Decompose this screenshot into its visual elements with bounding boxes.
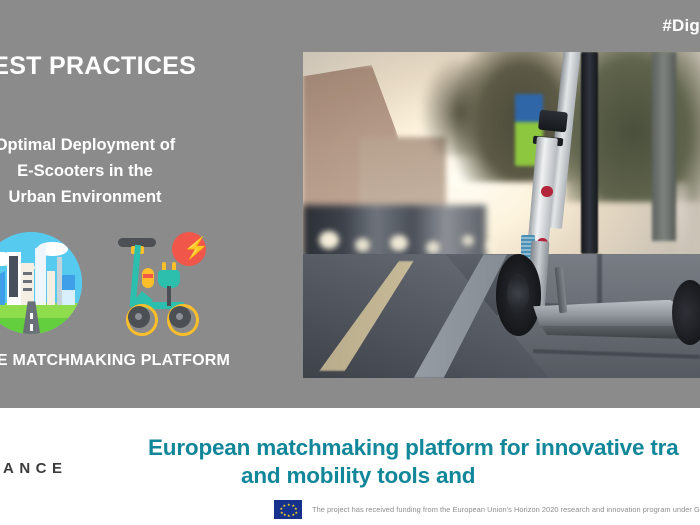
funding-row: ★ ★ ★ ★ ★ ★ ★ ★ ★ ★ The project has rece… [274, 500, 700, 519]
slide-viewport: #Dig BEST PRACTICES Optimal Deployment o… [0, 0, 700, 525]
slide-subtitle: Optimal Deployment of E-Scooters in the … [0, 132, 300, 210]
slide-title: BEST PRACTICES [0, 52, 300, 81]
city-skyline-icon [0, 232, 82, 334]
slide-hashtag: #Dig [662, 16, 700, 36]
platform-label: TRANCE MATCHMAKING PLATFORM [0, 352, 300, 370]
funding-text: The project has received funding from th… [312, 505, 700, 514]
slide-panel: #Dig BEST PRACTICES Optimal Deployment o… [0, 0, 700, 408]
e-scooter-street-photo [303, 52, 700, 378]
electric-scooter-icon: ⚡ [90, 228, 200, 338]
brand-logo: TRANCE [0, 460, 68, 477]
lightning-bolt-icon: ⚡ [183, 238, 209, 259]
icon-row: ⚡ [0, 228, 300, 338]
slide-subtitle-line-2: E-Scooters in the [0, 158, 300, 184]
slide-subtitle-line-1: Optimal Deployment of [0, 132, 300, 158]
banner-headline-line-2: and mobility tools and [148, 462, 700, 490]
banner-headline-line-1: European matchmaking platform for innova… [148, 435, 679, 460]
banner-headline: European matchmaking platform for innova… [148, 434, 700, 490]
eu-flag-icon: ★ ★ ★ ★ ★ ★ ★ ★ ★ ★ [274, 500, 302, 519]
slide-subtitle-line-3: Urban Environment [0, 184, 300, 210]
